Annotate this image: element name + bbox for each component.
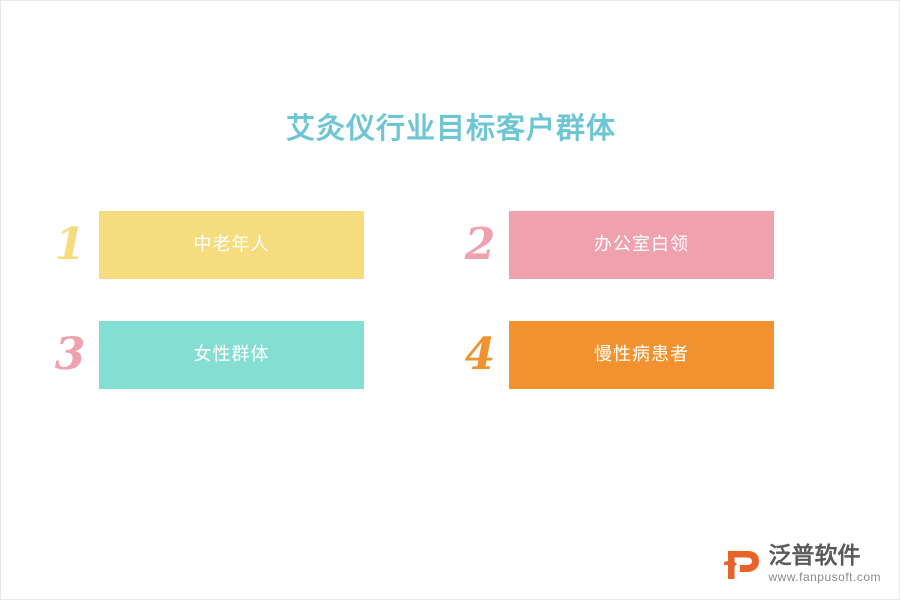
list-item[interactable]: 1 中老年人 — [41, 211, 451, 279]
brand-logo[interactable]: 泛普软件 www.fanpusoft.com — [722, 544, 881, 585]
item-number: 3 — [41, 321, 99, 389]
item-label-bar[interactable]: 中老年人 — [99, 211, 364, 279]
page-title: 艾灸仪行业目标客户群体 — [1, 105, 900, 147]
item-number: 1 — [41, 211, 99, 279]
logo-text-block: 泛普软件 www.fanpusoft.com — [768, 544, 881, 585]
slide-canvas: 艾灸仪行业目标客户群体 1 中老年人 2 办公室白领 3 女性群体 4 慢性病患… — [0, 0, 900, 600]
list-item[interactable]: 4 慢性病患者 — [451, 321, 861, 389]
list-item[interactable]: 2 办公室白领 — [451, 211, 861, 279]
list-item[interactable]: 3 女性群体 — [41, 321, 451, 389]
fanpu-logo-icon — [722, 545, 762, 585]
items-grid: 1 中老年人 2 办公室白领 3 女性群体 4 慢性病患者 — [41, 211, 861, 431]
item-label-bar[interactable]: 慢性病患者 — [509, 321, 774, 389]
item-label-bar[interactable]: 办公室白领 — [509, 211, 774, 279]
item-number: 4 — [451, 321, 509, 389]
item-label-bar[interactable]: 女性群体 — [99, 321, 364, 389]
logo-website-url: www.fanpusoft.com — [768, 569, 881, 585]
item-number: 2 — [451, 211, 509, 279]
logo-company-name: 泛普软件 — [768, 544, 881, 569]
items-row-1: 1 中老年人 2 办公室白领 — [41, 211, 861, 279]
items-row-2: 3 女性群体 4 慢性病患者 — [41, 321, 861, 389]
